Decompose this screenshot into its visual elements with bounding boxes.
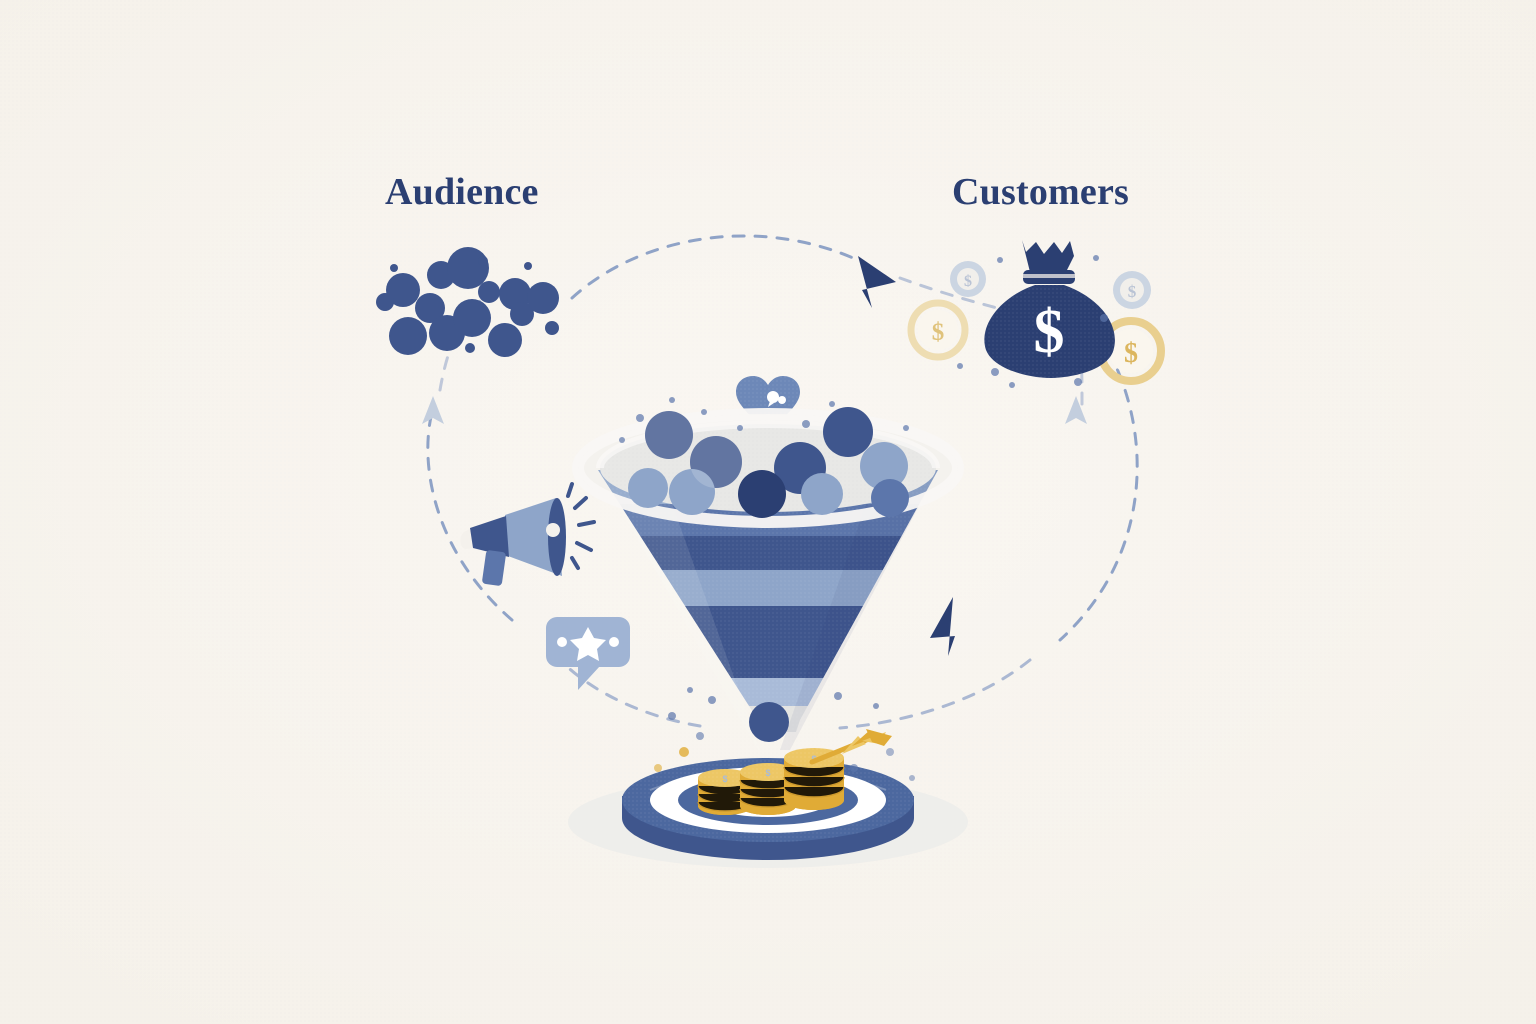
svg-text:$: $	[722, 774, 727, 784]
coin-stack-large: $	[784, 748, 844, 810]
svg-text:$: $	[765, 768, 770, 778]
svg-text:$: $	[932, 319, 945, 346]
svg-text:$: $	[1034, 298, 1065, 366]
page-title-customers: Customers	[952, 170, 1129, 214]
funnel-illustration-svg: $ $ $ $	[0, 0, 1536, 1024]
funnel-output-ball	[749, 702, 789, 742]
pale-coin-upper-left: $	[950, 261, 986, 297]
svg-text:$: $	[964, 273, 972, 290]
pale-coin-upper-right: $	[1113, 271, 1151, 309]
svg-text:$: $	[1128, 282, 1137, 301]
page-title-audience: Audience	[385, 170, 539, 214]
svg-text:$: $	[1124, 338, 1138, 369]
illustration-canvas: $ $ $ $	[0, 0, 1536, 1024]
gold-coin-left: $	[911, 303, 965, 357]
